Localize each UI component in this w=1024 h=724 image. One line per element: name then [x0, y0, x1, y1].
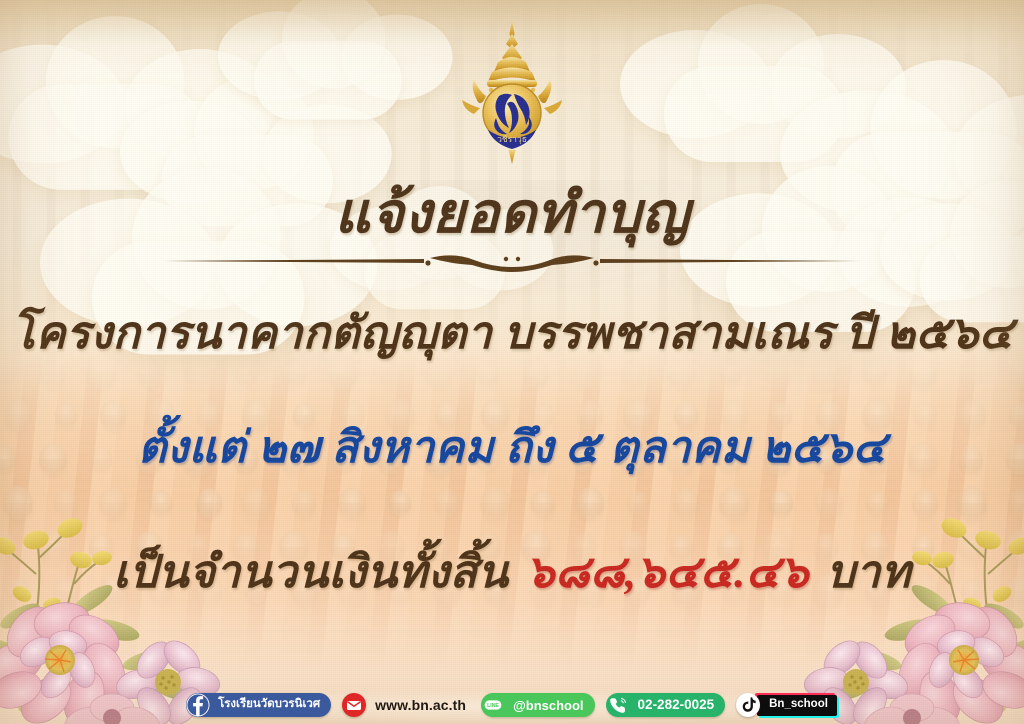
- facebook-badge[interactable]: โรงเรียนวัดบวรนิเวศ: [187, 693, 331, 717]
- decorative-divider: [162, 248, 862, 274]
- contact-footer: โรงเรียนวัดบวรนิเวศ www.bn.ac.th LINE: [0, 690, 1024, 720]
- line-icon: LINE: [481, 693, 505, 717]
- tiktok-badge[interactable]: Bn_school: [737, 693, 837, 717]
- website-badge[interactable]: www.bn.ac.th: [343, 693, 470, 717]
- tiktok-label: Bn_school: [769, 699, 828, 711]
- amount-unit-label: บาท: [826, 547, 910, 597]
- tiktok-name-plate: Bn_school: [757, 695, 837, 716]
- svg-text:LINE: LINE: [487, 703, 499, 709]
- page-title: แจ้งยอดทำบุญ: [0, 168, 1024, 257]
- date-range-line: ตั้งแต่ ๒๗ สิงหาคม ถึง ๕ ตุลาคม ๒๕๖๔: [0, 412, 1024, 482]
- donation-announcement-poster: วชิราวุธ แจ้งยอดทำบุญ โครงการนาคากตัญญุต…: [0, 0, 1024, 724]
- amount-line: เป็นจำนวนเงินทั้งสิ้น ๖๘๘,๖๔๕.๔๖ บาท: [0, 535, 1024, 607]
- poster-content: แจ้งยอดทำบุญ โครงการนาคากตัญญุตา บรรพชาส…: [0, 0, 1024, 724]
- phone-badge[interactable]: 02-282-0025: [607, 693, 726, 717]
- website-label: www.bn.ac.th: [367, 698, 466, 712]
- line-badge[interactable]: LINE @bnschool: [482, 693, 594, 717]
- amount-value: ๖๘๘,๖๔๕.๔๖: [520, 547, 815, 597]
- phone-icon: [606, 693, 630, 717]
- envelope-icon: [342, 693, 366, 717]
- phone-label: 02-282-0025: [631, 698, 715, 712]
- facebook-label: โรงเรียนวัดบวรนิเวศ: [211, 699, 320, 711]
- tiktok-note-icon: [736, 693, 760, 717]
- amount-prefix-label: เป็นจำนวนเงินทั้งสิ้น: [113, 547, 508, 597]
- facebook-icon: [186, 693, 210, 717]
- project-line: โครงการนาคากตัญญุตา บรรพชาสามเณร ปี ๒๕๖๔: [0, 296, 1024, 368]
- line-label: @bnschool: [506, 699, 583, 712]
